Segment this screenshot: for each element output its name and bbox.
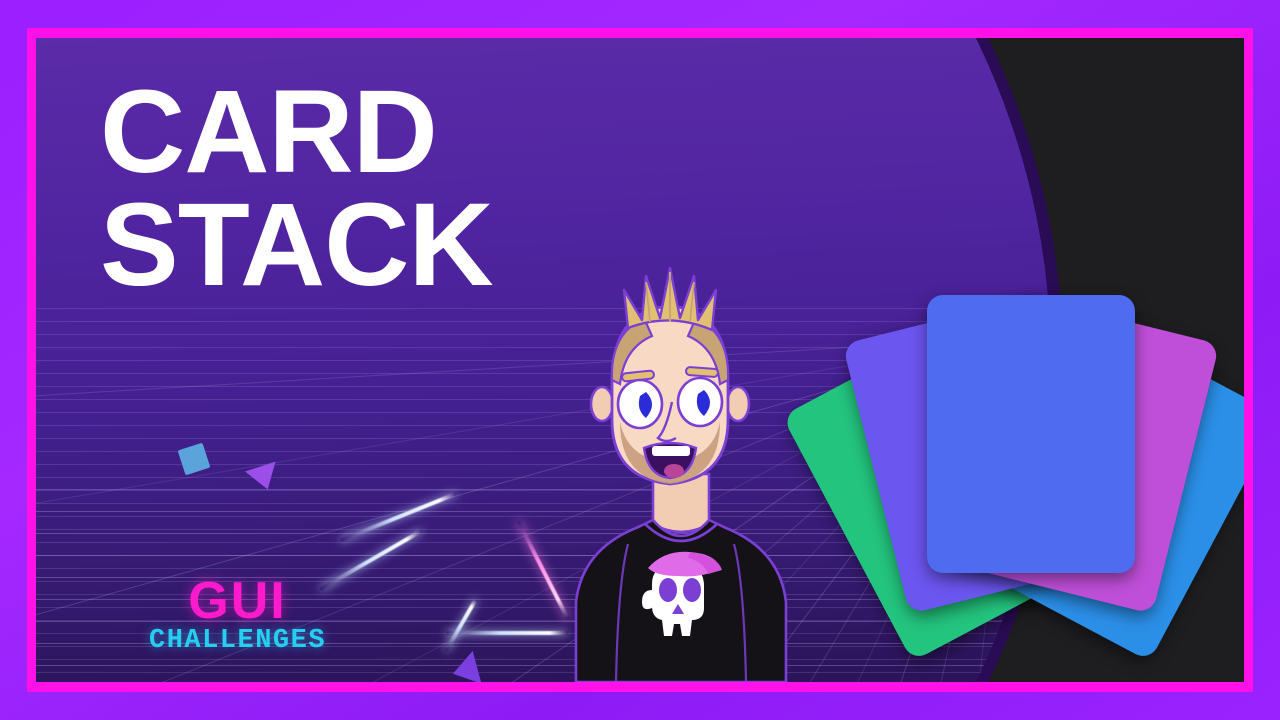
- purple-triangle-upper: [245, 462, 283, 495]
- logo-secondary-text: CHALLENGES: [149, 628, 326, 655]
- thumbnail-canvas: CARD STACK GUI CHALLENGES: [0, 0, 1280, 720]
- gui-challenges-logo: GUI CHALLENGES: [149, 578, 326, 655]
- card-blue-front[interactable]: [927, 295, 1135, 573]
- thumbnail-inner-panel: CARD STACK GUI CHALLENGES: [36, 38, 1244, 682]
- streak-white-2: [319, 529, 423, 591]
- streak-white-4: [444, 598, 477, 652]
- character-svg: [516, 262, 846, 682]
- character-illustration: [516, 262, 846, 682]
- streak-white-1: [340, 492, 457, 543]
- card-stack-illustration[interactable]: [781, 263, 1244, 648]
- logo-primary-text: GUI: [149, 578, 326, 626]
- page-title: CARD STACK: [100, 76, 493, 303]
- purple-triangle-lower: [449, 651, 482, 682]
- blue-square: [178, 443, 211, 476]
- magenta-accent-frame: CARD STACK GUI CHALLENGES: [27, 28, 1253, 692]
